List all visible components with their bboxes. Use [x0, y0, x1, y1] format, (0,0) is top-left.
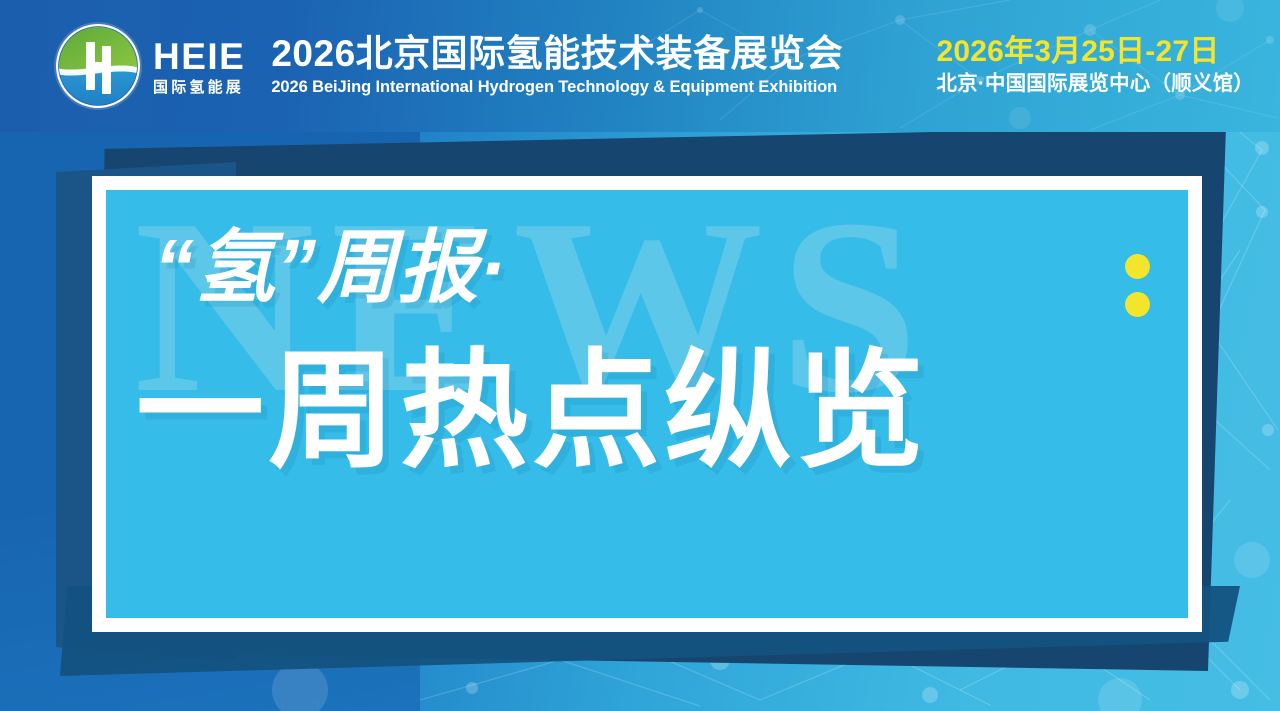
brand-tagline: 国际氢能展	[153, 80, 245, 95]
headline-card-frame: NEWS “氢”周报· 一周热点纵览	[92, 176, 1202, 632]
yellow-dot-group	[1125, 254, 1150, 330]
brand-acronym: HEIE	[153, 38, 245, 75]
header-bar: HEIE 国际氢能展 2026北京国际氢能技术装备展览会 2026 BeiJin…	[0, 0, 1280, 132]
headline-line-2: 一周热点纵览	[136, 348, 928, 476]
exhibition-venue: 北京·中国国际展览中心（顺义馆）	[936, 72, 1254, 97]
exhibition-title-cn: 2026北京国际氢能技术装备展览会	[271, 34, 922, 73]
exhibition-meta-block: 2026年3月25日-27日 北京·中国国际展览中心（顺义馆）	[936, 36, 1254, 97]
yellow-dot	[1125, 254, 1150, 279]
headline-line-1: “氢”周报·	[154, 228, 507, 308]
heie-circular-logo-icon	[56, 24, 140, 108]
poster-stage: HEIE 国际氢能展 2026北京国际氢能技术装备展览会 2026 BeiJin…	[0, 0, 1280, 711]
brand-logo-text: HEIE 国际氢能展	[153, 38, 245, 95]
headline-text-group: “氢”周报· 一周热点纵览	[106, 190, 1188, 618]
headline-card: NEWS “氢”周报· 一周热点纵览	[106, 190, 1188, 618]
exhibition-title-block: 2026北京国际氢能技术装备展览会 2026 BeiJing Internati…	[271, 34, 922, 98]
exhibition-title-en: 2026 BeiJing International Hydrogen Tech…	[271, 78, 922, 98]
header-content: HEIE 国际氢能展 2026北京国际氢能技术装备展览会 2026 BeiJin…	[0, 0, 1280, 132]
brand-logo[interactable]: HEIE 国际氢能展	[56, 24, 245, 108]
exhibition-date: 2026年3月25日-27日	[936, 36, 1254, 68]
yellow-dot	[1125, 292, 1150, 317]
